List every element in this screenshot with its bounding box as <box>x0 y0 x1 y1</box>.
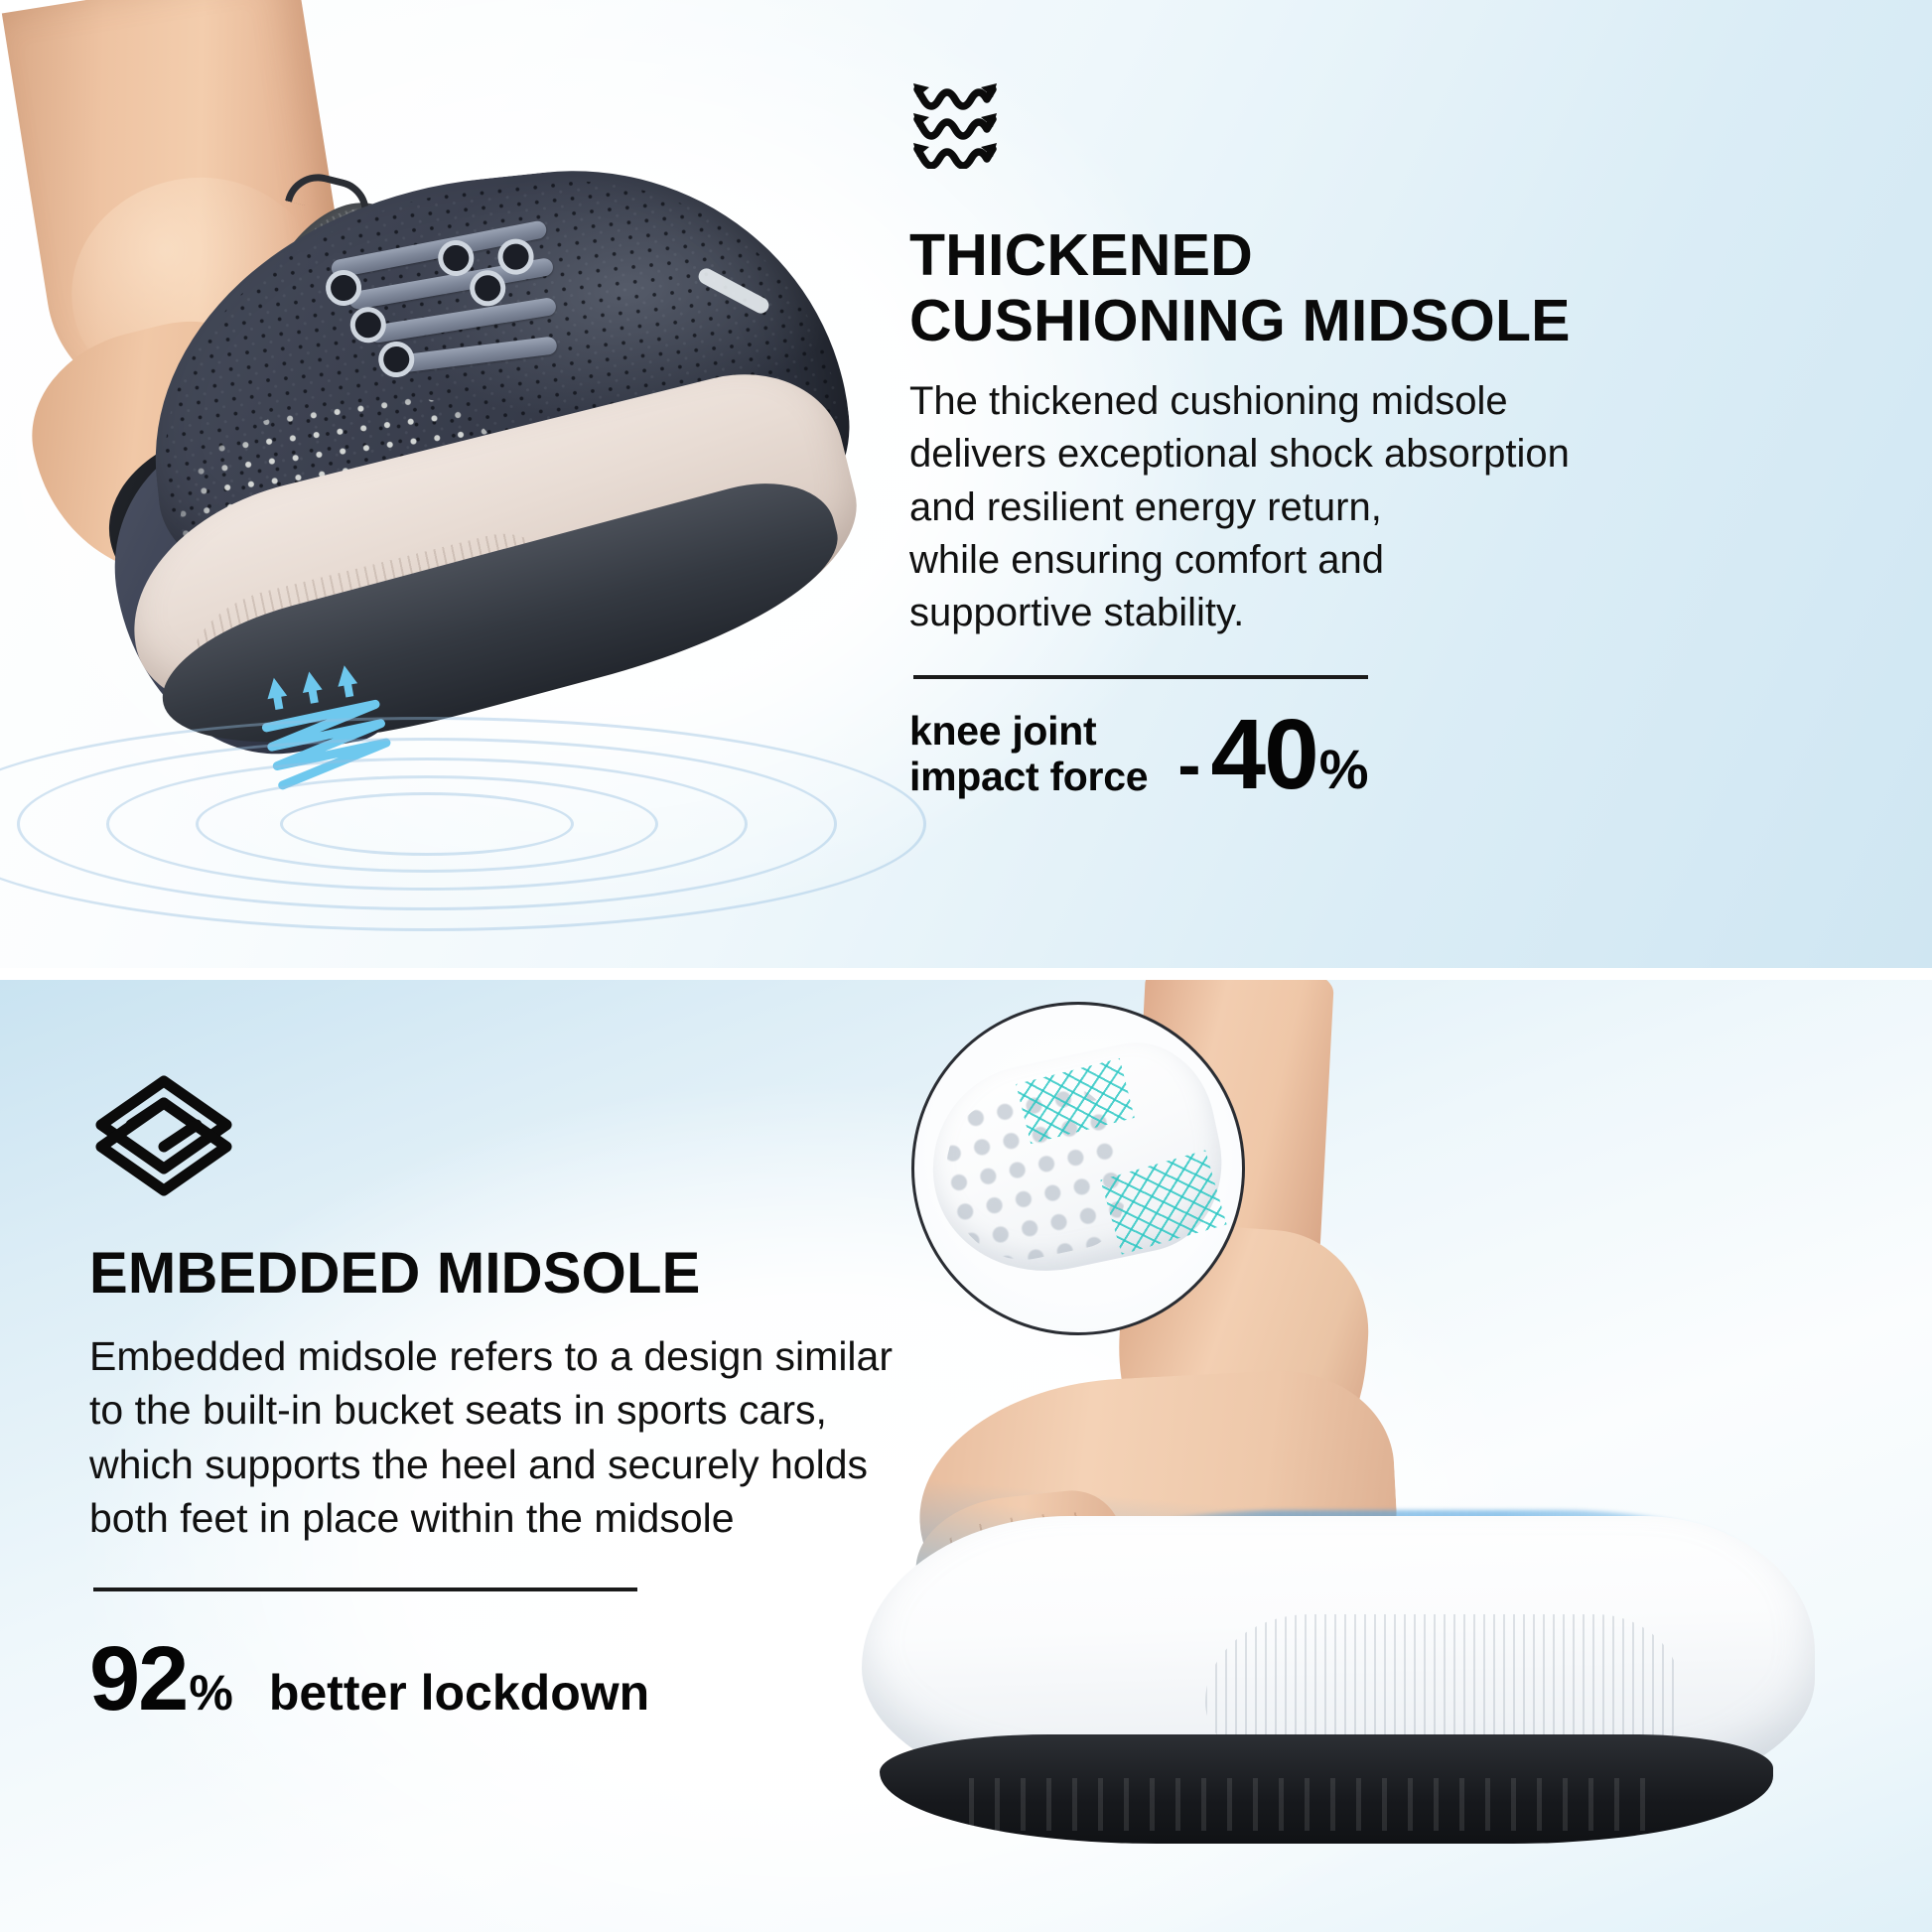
panel1-stat-label-line: knee joint <box>909 709 1148 755</box>
insole-closeup-inset <box>911 1002 1245 1335</box>
panel1-stat-label: knee joint impact force <box>909 709 1148 800</box>
foot-in-midsole-image <box>824 980 1932 1932</box>
stacked-diamond-icon <box>89 1067 238 1204</box>
panel1-stat-minus-sign: - <box>1177 730 1200 799</box>
panel1-stat: knee joint impact force - 40 % <box>909 705 1902 804</box>
infographic-page: THICKENED CUSHIONING MIDSOLE The thicken… <box>0 0 1932 1932</box>
impact-ripple-rings <box>0 695 1013 953</box>
panel1-stat-value: - 40 % <box>1177 705 1368 804</box>
panel1-stat-number: 40 <box>1211 705 1317 804</box>
panel1-body-line: The thickened cushioning midsole <box>909 375 1902 428</box>
panel1-title-line: THICKENED <box>909 222 1902 288</box>
panel2-stat-number: 92 <box>89 1633 187 1725</box>
ripple-ring <box>280 792 574 856</box>
panel2-divider <box>93 1587 637 1591</box>
panel2-stat-label: better lockdown <box>269 1668 649 1718</box>
panel2-stat-percent-sign: % <box>189 1668 232 1718</box>
shoe-heel-strike-image <box>0 0 913 968</box>
panel-thickened-cushioning-midsole: THICKENED CUSHIONING MIDSOLE The thicken… <box>0 0 1932 968</box>
panel1-body-line: and resilient energy return, <box>909 482 1902 534</box>
panel-embedded-midsole: EMBEDDED MIDSOLE Embedded midsole refers… <box>0 980 1932 1932</box>
panel1-stat-percent-sign: % <box>1319 742 1369 797</box>
shoe-lace <box>390 336 558 373</box>
panel1-body-line: while ensuring comfort and <box>909 534 1902 587</box>
panel1-divider <box>913 675 1368 679</box>
panel-separator <box>0 968 1932 980</box>
panel1-body-line: delivers exceptional shock absorption <box>909 428 1902 481</box>
panel1-body-line: supportive stability. <box>909 587 1902 639</box>
shoe-eyelet <box>376 340 416 379</box>
shoe-lace <box>368 297 557 345</box>
panel1-body-text: The thickened cushioning midsole deliver… <box>909 375 1902 639</box>
midsole-outsole <box>880 1734 1773 1844</box>
panel1-title-line: CUSHIONING MIDSOLE <box>909 288 1902 353</box>
panel1-text-column: THICKENED CUSHIONING MIDSOLE The thicken… <box>909 73 1902 804</box>
wave-lines-icon <box>909 73 1021 169</box>
panel1-title: THICKENED CUSHIONING MIDSOLE <box>909 222 1902 353</box>
panel1-stat-label-line: impact force <box>909 755 1148 800</box>
